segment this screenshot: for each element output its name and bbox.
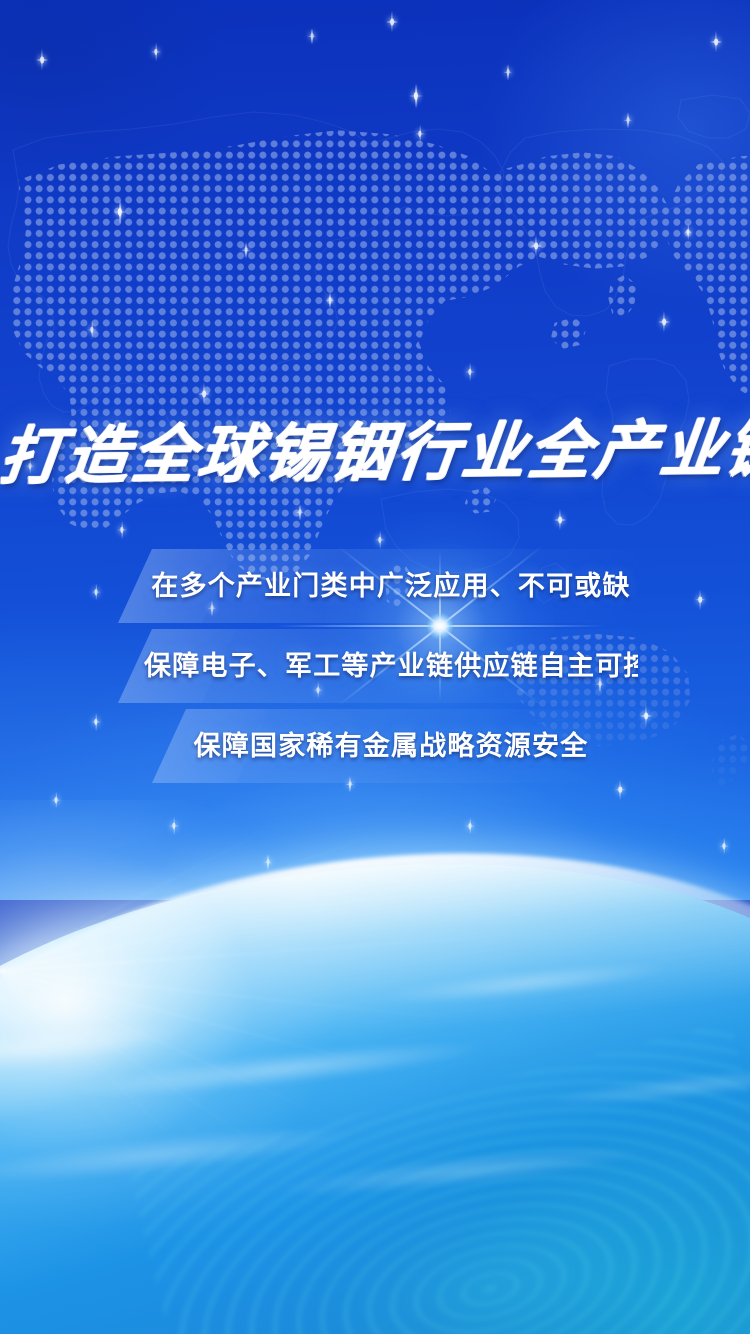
subtitle-text-1: 在多个产业门类中广泛应用、不可或缺: [118, 573, 638, 600]
subtitle-banner-1: 在多个产业门类中广泛应用、不可或缺: [118, 549, 638, 623]
star-icon: [390, 19, 394, 26]
star-icon: [329, 297, 332, 302]
star-icon: [687, 229, 690, 235]
star-icon: [662, 319, 666, 326]
star-icon: [311, 33, 314, 38]
star-icon: [534, 243, 538, 250]
star-icon: [299, 509, 302, 514]
star-icon: [618, 787, 622, 793]
star-icon: [202, 391, 206, 398]
subtitle-banner-3: 保障国家稀有金属战略资源安全: [152, 709, 604, 783]
star-icon: [698, 597, 702, 603]
subtitle-text-3: 保障国家稀有金属战略资源安全: [152, 733, 604, 760]
lens-flare-icon: [439, 625, 441, 627]
star-icon: [245, 247, 248, 252]
page-title: 打造全球锡铟行业全产业链链主: [0, 418, 750, 489]
star-icon: [40, 57, 44, 64]
star-icon: [558, 517, 562, 524]
star-icon: [714, 39, 718, 46]
star-icon: [644, 713, 648, 720]
sun-glow: [0, 800, 500, 1334]
star-icon: [627, 117, 630, 122]
subtitle-banner-2: 保障电子、军工等产业链供应链自主可控: [118, 629, 638, 703]
subtitle-text-2: 保障电子、军工等产业链供应链自主可控: [118, 653, 638, 680]
poster-canvas: 打造全球锡铟行业全产业链链主 在多个产业门类中广泛应用、不可或缺 保障电子、军工…: [0, 0, 750, 1334]
star-icon: [95, 589, 98, 595]
star-icon: [507, 69, 510, 74]
